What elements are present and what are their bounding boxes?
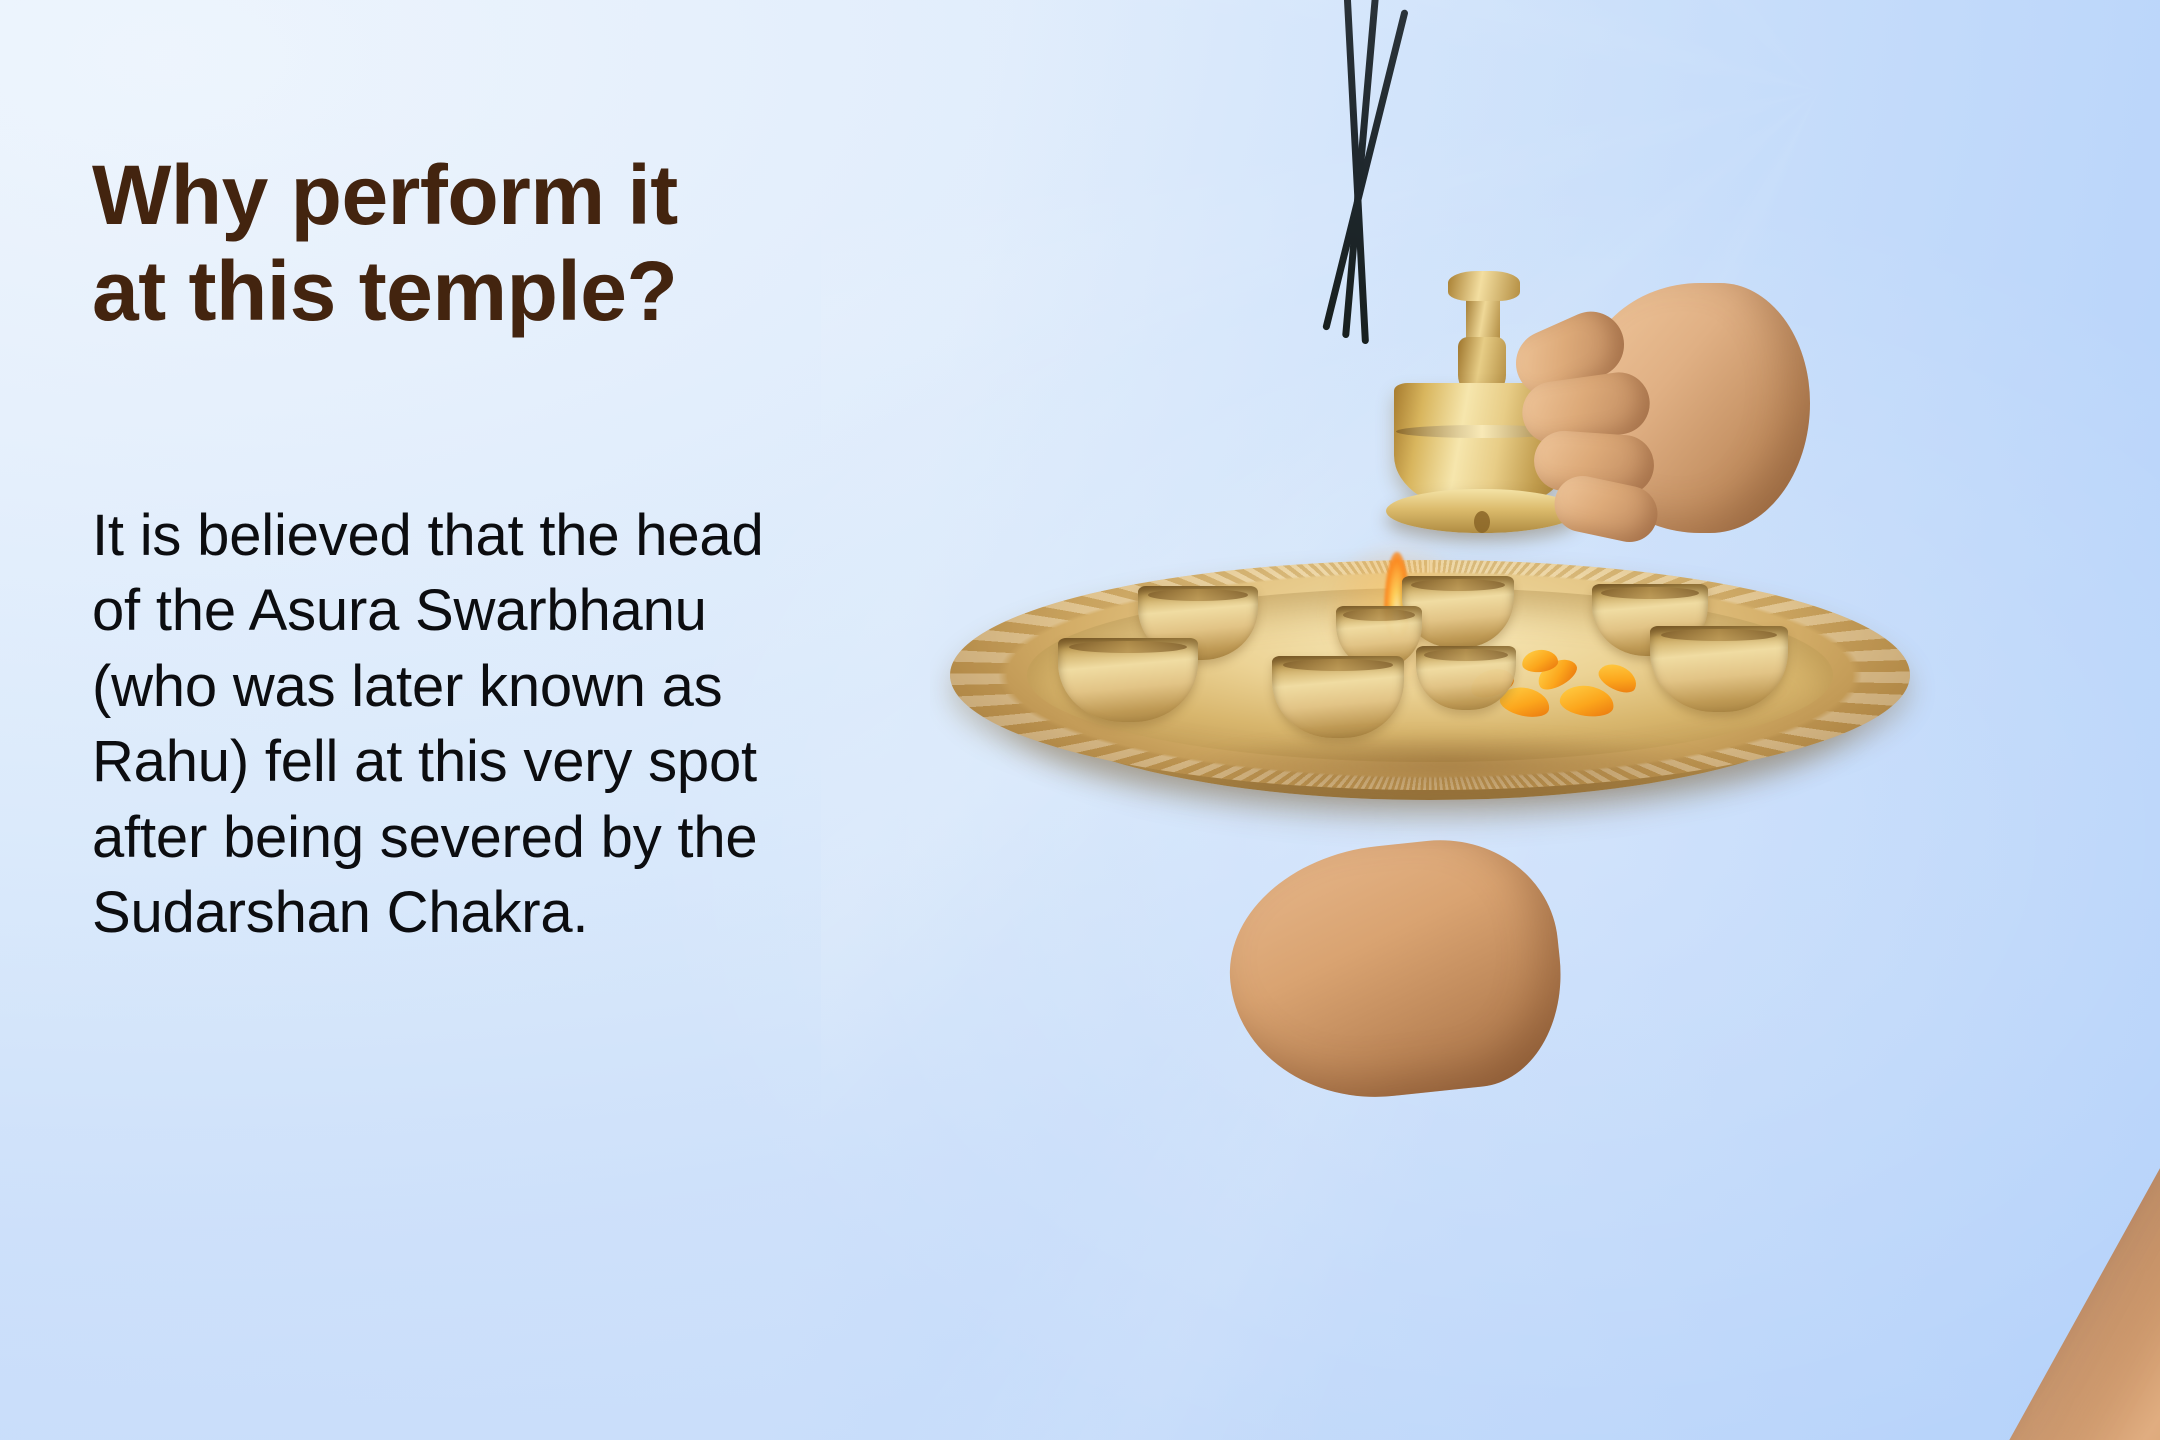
- bell-clapper: [1474, 511, 1490, 533]
- bell-finial: [1448, 271, 1520, 301]
- brass-bell: [1370, 275, 1800, 605]
- page-title: Why perform it at this temple?: [92, 148, 922, 340]
- body-paragraph: It is believed that the head of the Asur…: [92, 498, 792, 950]
- slide-root: Why perform it at this temple? It is bel…: [0, 0, 2160, 1440]
- holding-hand: [1218, 828, 1572, 1111]
- puja-photo: [930, 0, 2160, 1440]
- text-column: Why perform it at this temple? It is bel…: [92, 0, 952, 1440]
- thali-underside-shadow: [1180, 730, 1718, 800]
- forearm: [1939, 710, 2160, 1440]
- bell-hand: [1520, 265, 1800, 595]
